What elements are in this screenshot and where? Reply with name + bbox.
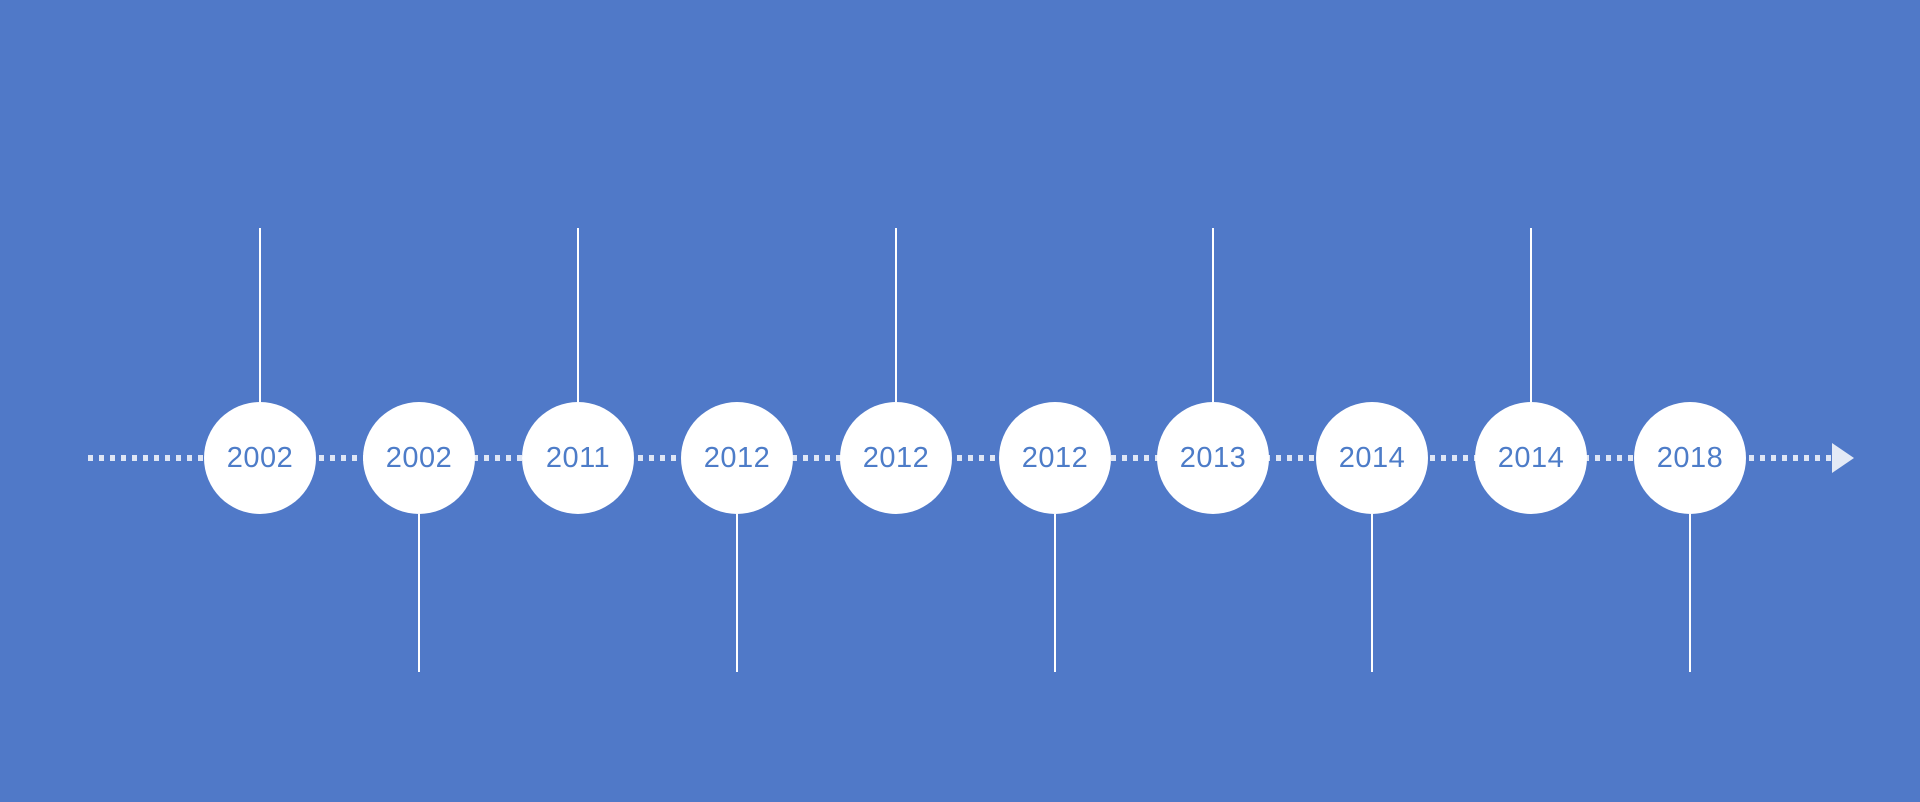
timeline-node-7[interactable]: 2013 (1157, 402, 1269, 514)
timeline-node-circle[interactable]: 2002 (363, 402, 475, 514)
timeline-node-2[interactable]: 2002 (363, 402, 475, 514)
timeline-node-year-label: 2018 (1657, 444, 1724, 473)
timeline-node-circle[interactable]: 2014 (1316, 402, 1428, 514)
timeline-node-1[interactable]: 2002 (204, 402, 316, 514)
timeline-node-9[interactable]: 2014 (1475, 402, 1587, 514)
timeline-node-stem-up (895, 228, 897, 402)
timeline-node-year-label: 2012 (1022, 444, 1089, 473)
timeline-arrow-icon (1832, 443, 1854, 473)
timeline-node-stem-down (1689, 514, 1691, 672)
timeline-node-year-label: 2013 (1180, 444, 1247, 473)
timeline-node-stem-down (418, 514, 420, 672)
timeline-node-5[interactable]: 2012 (840, 402, 952, 514)
timeline-node-stem-up (1212, 228, 1214, 402)
timeline-node-stem-up (577, 228, 579, 402)
timeline-node-year-label: 2014 (1498, 444, 1565, 473)
timeline-node-circle[interactable]: 2012 (681, 402, 793, 514)
timeline-node-circle[interactable]: 2002 (204, 402, 316, 514)
timeline-node-year-label: 2012 (704, 444, 771, 473)
timeline-node-circle[interactable]: 2012 (840, 402, 952, 514)
timeline-node-stem-down (1371, 514, 1373, 672)
timeline-node-circle[interactable]: 2011 (522, 402, 634, 514)
timeline-node-year-label: 2014 (1339, 444, 1406, 473)
timeline-node-year-label: 2012 (863, 444, 930, 473)
timeline-node-year-label: 2011 (546, 444, 610, 473)
timeline-node-stem-down (736, 514, 738, 672)
timeline-node-4[interactable]: 2012 (681, 402, 793, 514)
timeline-node-year-label: 2002 (386, 444, 453, 473)
timeline-node-stem-up (1530, 228, 1532, 402)
timeline-node-6[interactable]: 2012 (999, 402, 1111, 514)
timeline-node-stem-up (259, 228, 261, 402)
timeline-node-circle[interactable]: 2018 (1634, 402, 1746, 514)
timeline-node-3[interactable]: 2011 (522, 402, 634, 514)
timeline-node-circle[interactable]: 2014 (1475, 402, 1587, 514)
timeline-node-stem-down (1054, 514, 1056, 672)
timeline-node-circle[interactable]: 2012 (999, 402, 1111, 514)
timeline-node-year-label: 2002 (227, 444, 294, 473)
timeline-node-10[interactable]: 2018 (1634, 402, 1746, 514)
timeline-node-8[interactable]: 2014 (1316, 402, 1428, 514)
timeline-node-circle[interactable]: 2013 (1157, 402, 1269, 514)
timeline-canvas: 2002200220112012201220122013201420142018 (0, 0, 1920, 802)
